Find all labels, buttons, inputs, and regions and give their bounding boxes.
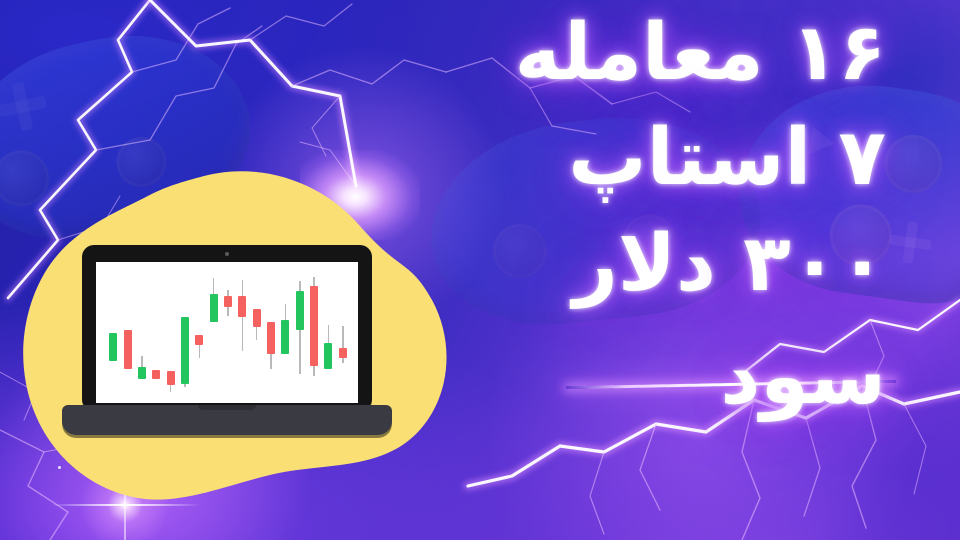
candlestick-body — [281, 320, 289, 355]
candlestick-5 — [167, 262, 175, 403]
candlestick-10 — [238, 262, 246, 403]
candlestick-body — [310, 286, 318, 366]
candlestick-4 — [152, 262, 160, 403]
laptop-screen — [96, 262, 358, 403]
candlestick-body — [210, 294, 218, 322]
headline-line-4: سود — [326, 336, 886, 419]
candlestick-body — [138, 367, 146, 379]
candlestick-11 — [253, 262, 261, 403]
headline-line-1: ۱۶ معامله — [326, 12, 886, 95]
headline-line-3: ۳۰۰ دلار — [326, 223, 886, 306]
candlestick-body — [124, 330, 132, 369]
candlestick-15 — [310, 262, 318, 403]
candlestick-7 — [195, 262, 203, 403]
candlestick-2 — [124, 262, 132, 403]
candlestick-13 — [281, 262, 289, 403]
candlestick-body — [167, 371, 175, 385]
candlestick-body — [181, 317, 189, 384]
candlestick-1 — [109, 262, 117, 403]
thumbnail-canvas: ۱۶ معامله ۷ استاپ ۳۰۰ دلار سود — [0, 0, 960, 540]
candlestick-9 — [224, 262, 232, 403]
candlestick-body — [224, 296, 232, 306]
candlestick-body — [238, 296, 246, 317]
webcam-icon — [225, 252, 229, 256]
candlestick-body — [109, 333, 117, 361]
candlestick-14 — [296, 262, 304, 403]
candlestick-body — [296, 291, 304, 330]
candlestick-8 — [210, 262, 218, 403]
candlestick-body — [152, 370, 160, 379]
headline-block: ۱۶ معامله ۷ استاپ ۳۰۰ دلار سود — [326, 8, 886, 419]
headline-line-2: ۷ استاپ — [326, 117, 886, 200]
candlestick-body — [253, 309, 261, 327]
candlestick-body — [195, 335, 203, 345]
candlestick-6 — [181, 262, 189, 403]
candlestick-3 — [138, 262, 146, 403]
candlestick-body — [267, 322, 275, 354]
laptop-base-notch — [198, 405, 256, 410]
candlestick-chart — [96, 262, 358, 403]
candlestick-12 — [267, 262, 275, 403]
